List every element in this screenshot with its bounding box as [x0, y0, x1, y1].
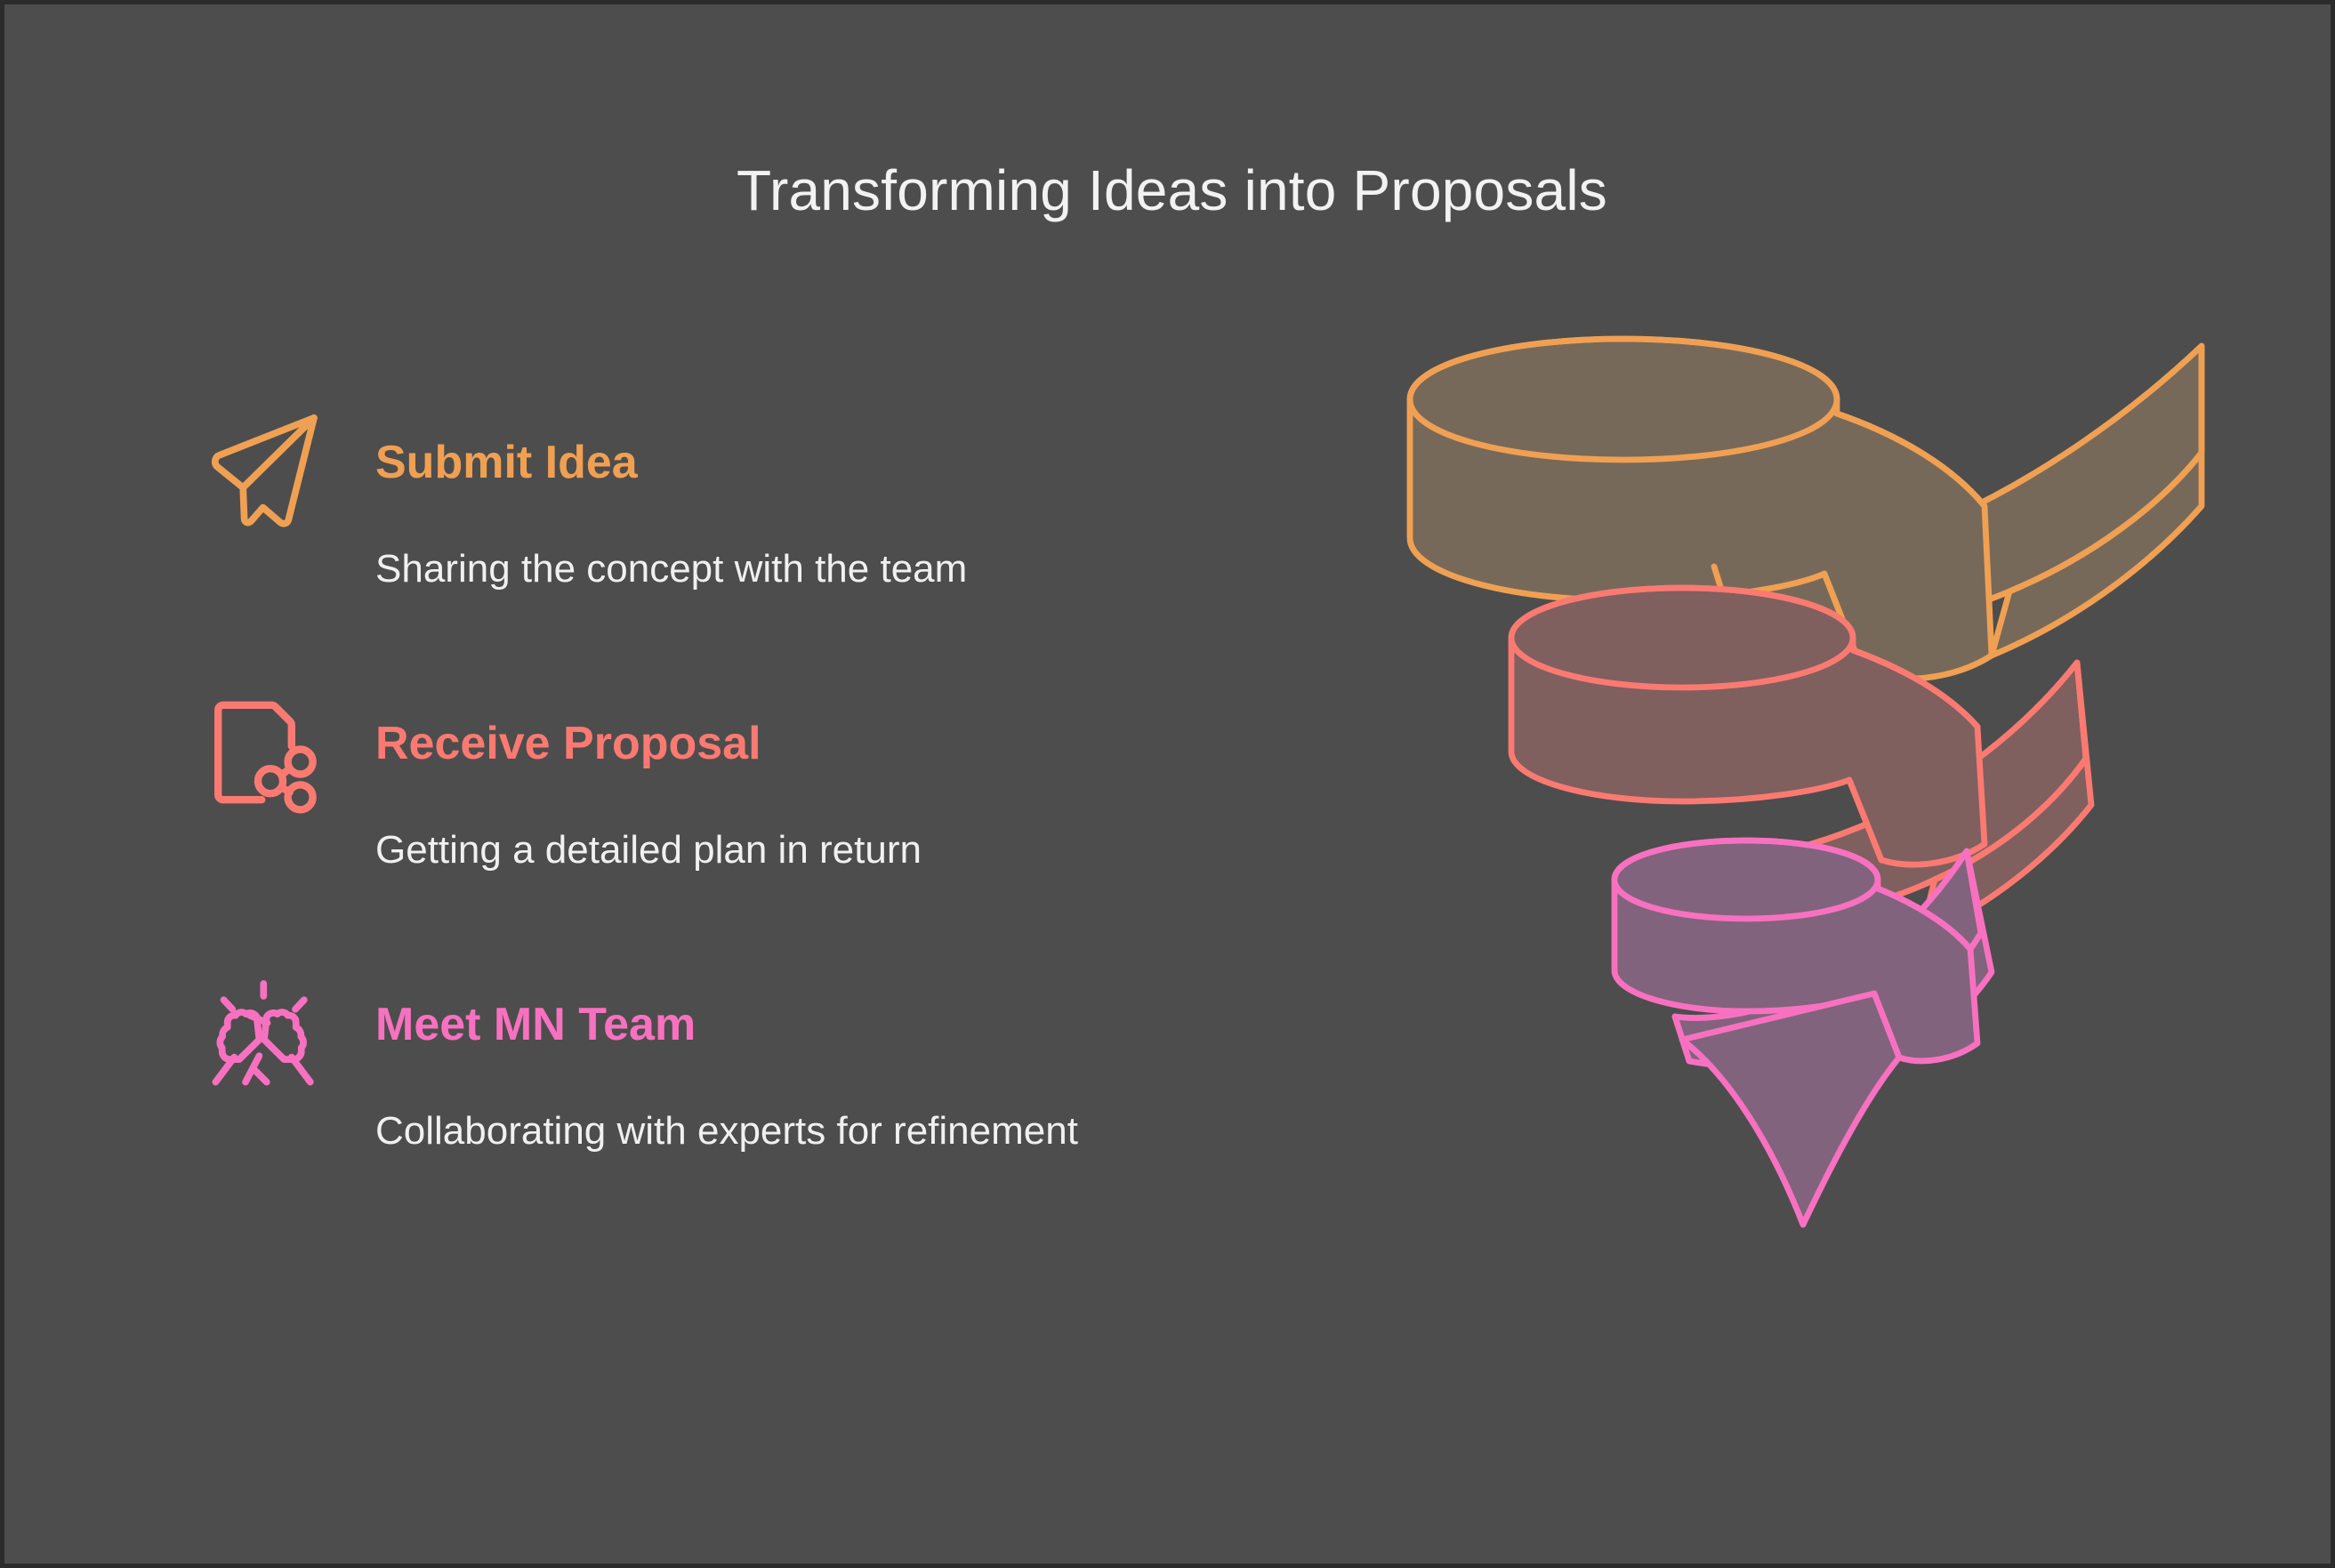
step-description: Getting a detailed plan in return [375, 828, 922, 872]
step-description: Collaborating with experts for refinemen… [375, 1109, 1078, 1154]
step-heading: Receive Proposal [375, 717, 761, 770]
fist-bump-icon [202, 971, 326, 1096]
list-item[interactable]: Meet MN Team Collaborating with experts … [202, 971, 1314, 1194]
list-item[interactable]: Submit Idea Sharing the concept with the… [202, 409, 1314, 631]
paper-plane-icon [202, 409, 326, 534]
step-description: Sharing the concept with the team [375, 547, 967, 591]
steps-list: Submit Idea Sharing the concept with the… [202, 409, 1314, 1252]
slide-canvas: Transforming Ideas into Proposals Submit… [0, 0, 2335, 1568]
spiral-funnel-graphic [1365, 307, 2219, 1427]
step-heading: Submit Idea [375, 436, 638, 489]
step-heading: Meet MN Team [375, 998, 696, 1051]
file-share-icon [202, 690, 326, 815]
page-title: Transforming Ideas into Proposals [4, 157, 2335, 223]
list-item[interactable]: Receive Proposal Getting a detailed plan… [202, 690, 1314, 913]
funnel-band-meet-mn-team [1614, 840, 1992, 1225]
